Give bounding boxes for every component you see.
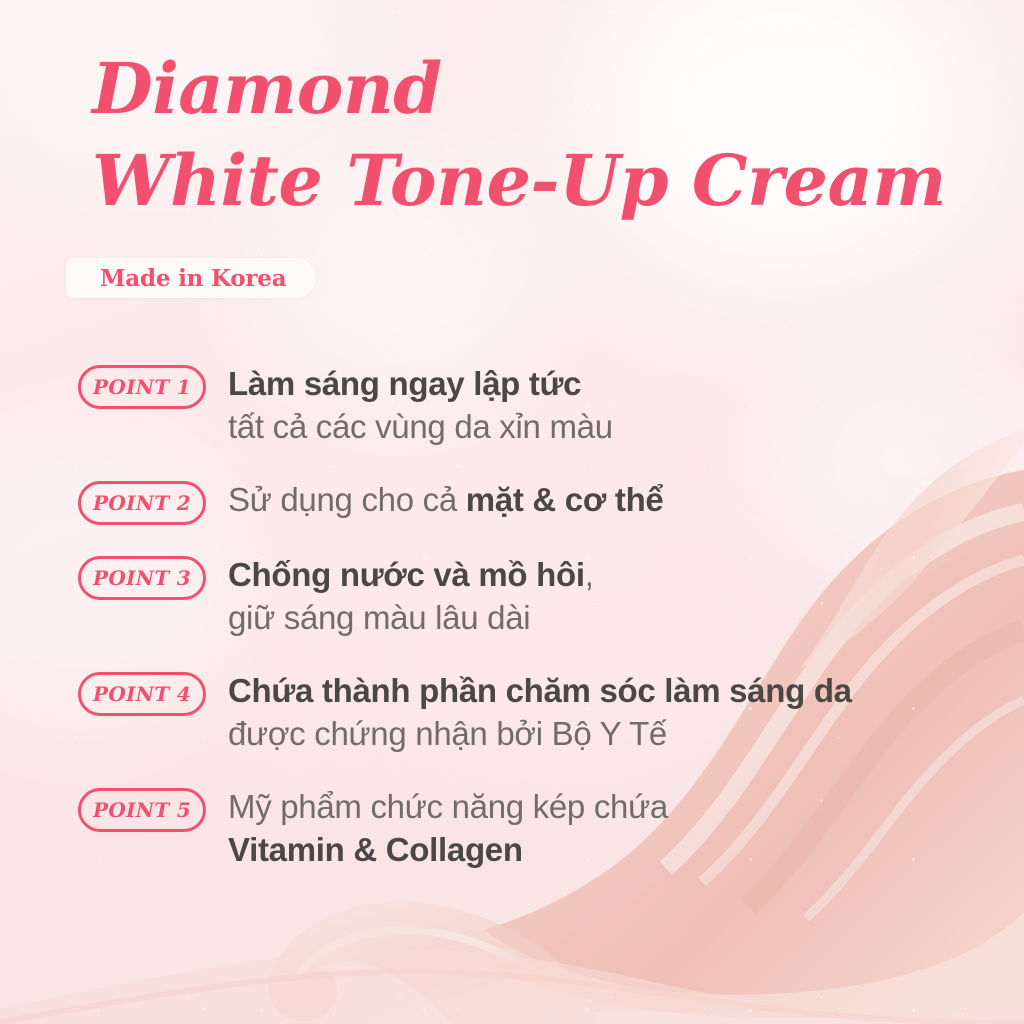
made-in-korea-label: Made in Korea [100,265,286,292]
point-segment: mặt & cơ thể [466,481,664,518]
point-badge-label: POINT 5 [93,798,191,822]
point-segment: Chống nước và mồ hôi [228,556,585,593]
point-badge-label: POINT 3 [93,566,191,590]
list-item: POINT 1 Làm sáng ngay lập tức tất cả các… [78,362,1008,448]
point-text: Mỹ phẩm chức năng kép chứa Vitamin & Col… [228,785,668,871]
point-badge: POINT 1 [78,365,206,409]
made-in-korea-badge: Made in Korea [66,258,316,298]
list-item: POINT 3 Chống nước và mồ hôi, giữ sáng m… [78,553,1008,639]
point-line: Sử dụng cho cả mặt & cơ thể [228,478,664,521]
point-badge-label: POINT 2 [93,491,191,515]
point-badge: POINT 2 [78,481,206,525]
point-line: tất cả các vùng da xỉn màu [228,405,613,448]
poster-content: Diamond White Tone-Up Cream Made in Kore… [0,0,1024,1024]
point-badge: POINT 3 [78,556,206,600]
point-line: Chống nước và mồ hôi, [228,553,594,596]
list-item: POINT 2 Sử dụng cho cả mặt & cơ thể [78,478,1008,525]
point-text: Chứa thành phần chăm sóc làm sáng da đượ… [228,669,852,755]
point-line: Mỹ phẩm chức năng kép chứa [228,785,668,828]
point-badge-label: POINT 1 [93,375,191,399]
point-text: Sử dụng cho cả mặt & cơ thể [228,478,664,521]
point-line: được chứng nhận bởi Bộ Y Tế [228,712,852,755]
point-text: Làm sáng ngay lập tức tất cả các vùng da… [228,362,613,448]
point-segment: Sử dụng cho cả [228,481,466,518]
point-segment: , [585,556,594,593]
list-item: POINT 5 Mỹ phẩm chức năng kép chứa Vitam… [78,785,1008,871]
title-line-2: White Tone-Up Cream [92,140,972,222]
point-line: giữ sáng màu lâu dài [228,596,594,639]
point-line: Làm sáng ngay lập tức [228,362,613,405]
point-badge: POINT 4 [78,672,206,716]
title-line-1: Diamond [92,48,972,130]
point-badge: POINT 5 [78,788,206,832]
point-line: Chứa thành phần chăm sóc làm sáng da [228,669,852,712]
points-list: POINT 1 Làm sáng ngay lập tức tất cả các… [78,362,1008,871]
product-title: Diamond White Tone-Up Cream [92,48,972,222]
point-line: Vitamin & Collagen [228,828,668,871]
point-text: Chống nước và mồ hôi, giữ sáng màu lâu d… [228,553,594,639]
point-badge-label: POINT 4 [93,682,191,706]
product-infographic-poster: Diamond White Tone-Up Cream Made in Kore… [0,0,1024,1024]
list-item: POINT 4 Chứa thành phần chăm sóc làm sán… [78,669,1008,755]
